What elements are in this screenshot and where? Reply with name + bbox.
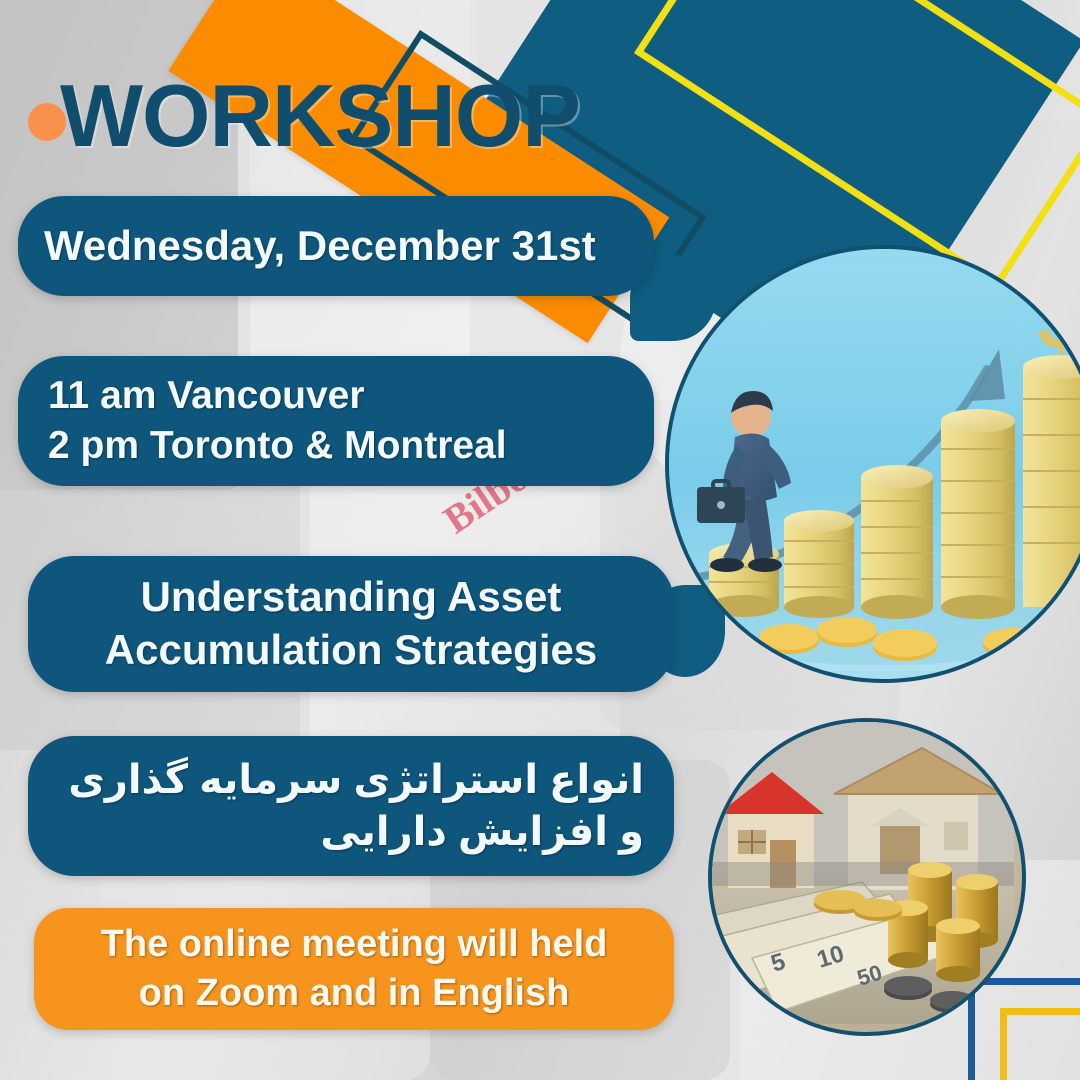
growth-illustration-circle: $ <box>665 245 1080 683</box>
date-pill: Wednesday, December 31st <box>18 196 654 296</box>
note-line-1: The online meeting will held <box>60 920 648 969</box>
time-line-2: 2 pm Toronto & Montreal <box>48 421 624 471</box>
yellow-corner-frame <box>1000 1008 1080 1080</box>
real-estate-investment-circle: 5 10 50 Euro <box>708 718 1026 1036</box>
note-line-2: on Zoom and in English <box>60 969 648 1018</box>
topic-farsi-line-2: و افزایش دارایی <box>58 806 644 858</box>
topic-line-1: Understanding Asset <box>54 571 648 624</box>
houses-and-money-illustration: 5 10 50 Euro <box>712 722 1014 1024</box>
coin-growth-illustration: $ <box>669 249 1080 671</box>
meeting-note-pill: The online meeting will held on Zoom and… <box>34 908 674 1030</box>
topic-pill: Understanding Asset Accumulation Strateg… <box>28 556 674 692</box>
time-pill: 11 am Vancouver 2 pm Toronto & Montreal <box>18 356 654 486</box>
topic-farsi-line-1: انواع استراتژی سرمایه گذاری <box>58 754 644 806</box>
topic-line-2: Accumulation Strategies <box>54 624 648 677</box>
page-title: WORKSHOP <box>60 72 580 160</box>
workshop-poster: WORKSHOP <box>0 0 1080 1080</box>
date-text: Wednesday, December 31st <box>44 222 628 270</box>
time-line-1: 11 am Vancouver <box>48 371 624 421</box>
topic-farsi-pill: انواع استراتژی سرمایه گذاری و افزایش دار… <box>28 736 674 876</box>
